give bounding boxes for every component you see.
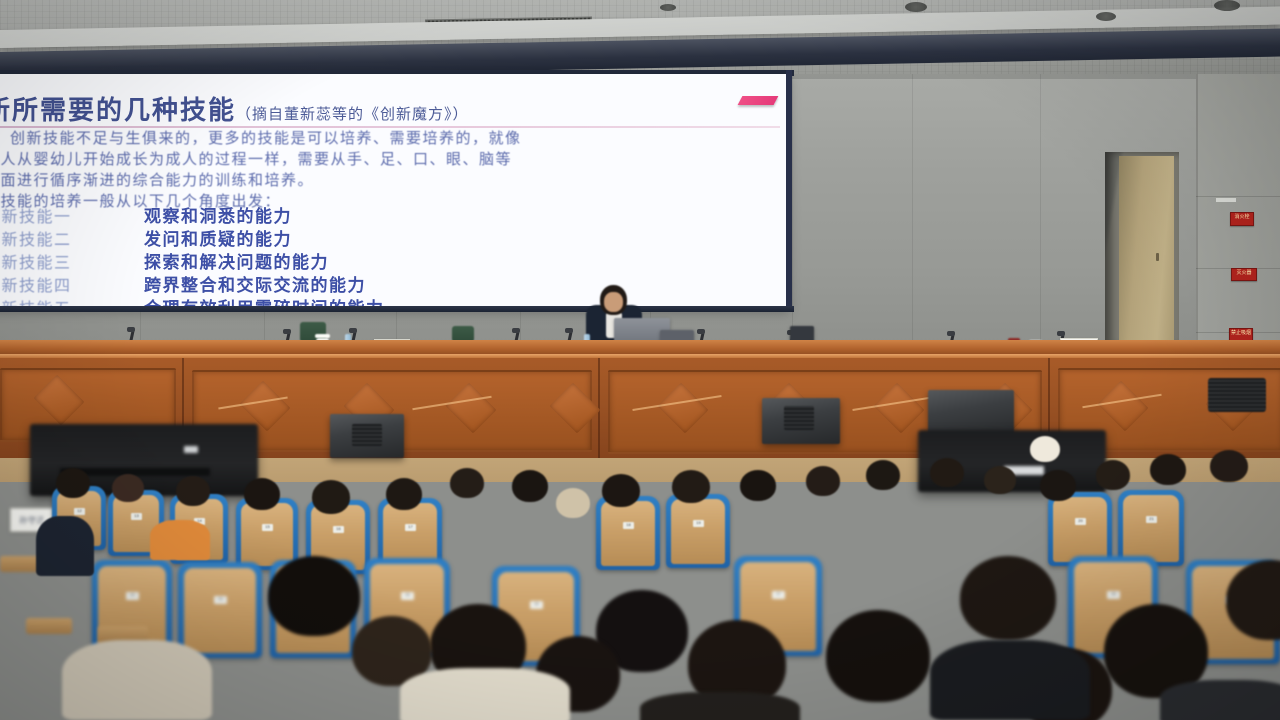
slide-skill-item: 创新技能三 探索和解决问题的能力 xyxy=(0,248,385,271)
microphone-head xyxy=(512,328,520,333)
wall-seam xyxy=(1040,74,1041,360)
lecture-hall-photo: 消火栓 灭火器 禁止吸烟 新所需要的几种技能（摘自董新蕊等的《创新魔方》） 创新… xyxy=(0,0,1280,720)
audience-head xyxy=(1096,460,1130,490)
seat-number: 12 xyxy=(74,508,85,515)
tea-cup-lid xyxy=(315,334,330,338)
skill-value: 发问和质疑的能力 xyxy=(144,225,292,250)
skill-value: 观察和洞悉的能力 xyxy=(144,202,292,227)
seat-back-pad xyxy=(1053,497,1107,562)
seat-armrest xyxy=(26,618,72,634)
audience-head xyxy=(672,470,710,503)
audience-shoulders xyxy=(640,692,800,720)
seat-back-pad xyxy=(184,568,256,653)
audience-head xyxy=(244,478,280,510)
slide-skill-item: 创新技能二 发问和质疑的能力 xyxy=(0,225,385,248)
audience-shoulders xyxy=(400,668,570,720)
audience-seat[interactable]: 20 xyxy=(1048,492,1112,566)
seat-back-pad xyxy=(241,503,293,566)
audience-head xyxy=(1210,450,1248,482)
slide-skill-item: 创新技能四 跨界整合和交际交流的能力 xyxy=(0,271,385,294)
audience-head xyxy=(984,466,1016,494)
slide: 新所需要的几种技能（摘自董新蕊等的《创新魔方》） 创新技能不足与生俱来的，更多的… xyxy=(0,74,790,310)
seat-number: 22 xyxy=(126,592,139,600)
audience-head xyxy=(826,610,930,702)
seat-back-pad xyxy=(671,499,725,564)
slide-title-note: （摘自董新蕊等的《创新魔方》） xyxy=(236,105,469,123)
audience-head-hood xyxy=(1030,436,1060,462)
audience-shoulders xyxy=(36,516,94,576)
slide-accent-mark xyxy=(738,96,779,105)
ceiling-downlight xyxy=(905,2,927,12)
audience-head xyxy=(806,466,840,496)
audience-seat[interactable]: 21 xyxy=(1118,490,1184,566)
audience-head xyxy=(56,468,90,498)
slide-body: 创新技能不足与生俱来的，更多的技能是可以培养、需要培养的，就像 个人从婴幼儿开始… xyxy=(0,128,790,212)
audience-head xyxy=(176,476,210,506)
seat-number: 26 xyxy=(530,601,543,609)
seat-number: 27 xyxy=(772,591,785,599)
audience-head xyxy=(960,556,1056,640)
slide-skill-item: 创新技能一 观察和洞悉的能力 xyxy=(0,202,385,225)
slide-title-main: 新所需要的几种技能 xyxy=(0,96,236,126)
audience-head xyxy=(866,460,900,490)
seat-number: 15 xyxy=(262,524,273,531)
speaker-grille xyxy=(784,406,814,430)
slide-body-line: 创新技能不足与生俱来的，更多的技能是可以培养、需要培养的，就像 xyxy=(0,128,790,149)
slide-body-line: 个人从婴幼儿开始成长为成人的过程一样，需要从手、足、口、眼、脑等 xyxy=(0,149,790,170)
pilaster-seam xyxy=(1196,196,1280,197)
fire-hydrant-sign: 消火栓 xyxy=(1230,212,1254,226)
seat-number: 25 xyxy=(401,592,414,600)
skill-key: 创新技能三 xyxy=(0,249,144,273)
seat-number: 21 xyxy=(1146,516,1157,523)
slide-skill-list: 创新技能一 观察和洞悉的能力 创新技能二 发问和质疑的能力 创新技能三 探索和解… xyxy=(0,202,385,310)
microphone-head xyxy=(1057,331,1065,336)
slide-body-line: 方面进行循序渐进的综合能力的训练和培养。 xyxy=(0,170,790,191)
seat-number: 17 xyxy=(405,524,416,531)
microphone-head xyxy=(127,327,135,332)
seat-number: 23 xyxy=(214,596,227,604)
audience-shoulders xyxy=(150,520,210,560)
ceiling-downlight xyxy=(1214,0,1240,11)
microphone-head xyxy=(697,329,705,334)
audience-head xyxy=(1150,454,1186,485)
wall-seam xyxy=(912,74,913,360)
audience-head xyxy=(740,470,776,501)
audience-seat[interactable]: 18 xyxy=(596,496,660,570)
audience-shoulders xyxy=(930,640,1090,720)
skill-value: 探索和解决问题的能力 xyxy=(144,248,329,273)
seat-number: 16 xyxy=(333,526,344,533)
audience-head xyxy=(602,474,640,507)
audience-head-cap xyxy=(556,488,590,518)
speaker-grille xyxy=(352,424,382,446)
side-door[interactable] xyxy=(1119,156,1174,347)
monitor-label xyxy=(184,446,198,453)
seat-number: 20 xyxy=(1075,518,1086,525)
audience-head xyxy=(512,470,548,502)
audience-head xyxy=(386,478,422,510)
ceiling-downlight xyxy=(660,4,676,11)
slide-title: 新所需要的几种技能（摘自董新蕊等的《创新魔方》） xyxy=(0,90,469,127)
audience-head xyxy=(1040,470,1076,501)
seat-number: 28 xyxy=(1107,591,1120,599)
microphone-head xyxy=(947,331,955,336)
audience-seat[interactable]: 19 xyxy=(666,494,730,568)
microphone-head xyxy=(349,328,357,333)
fire-extinguisher-sign: 灭火器 xyxy=(1231,268,1257,281)
seat-back-pad xyxy=(601,501,655,566)
wall-seam xyxy=(792,74,793,360)
seat-back-pad xyxy=(1123,495,1179,562)
floor-wedge-speaker xyxy=(1208,378,1266,412)
skill-key: 创新技能四 xyxy=(0,272,144,296)
audience-shoulders xyxy=(62,640,212,720)
audience-head xyxy=(930,458,964,487)
screen-frame-bottom xyxy=(0,306,794,312)
microphone-head xyxy=(565,328,573,333)
microphone-head xyxy=(283,329,291,334)
seat-number: 18 xyxy=(623,522,634,529)
pilaster-edge xyxy=(1196,74,1198,360)
screen-frame-right xyxy=(786,70,792,312)
skill-value: 跨界整合和交际交流的能力 xyxy=(144,271,366,296)
door-handle[interactable] xyxy=(1156,253,1159,261)
projection-screen: 新所需要的几种技能（摘自董新蕊等的《创新魔方》） 创新技能不足与生俱来的，更多的… xyxy=(0,74,790,310)
seat-number: 13 xyxy=(131,513,142,520)
skill-key: 创新技能二 xyxy=(0,226,144,250)
audience-head xyxy=(312,480,350,514)
wall-strip xyxy=(1216,198,1236,202)
audience-seat[interactable]: 23 xyxy=(178,562,262,658)
ceiling-downlight xyxy=(1096,12,1116,21)
audience-shoulders xyxy=(1160,680,1280,720)
presenter-face xyxy=(604,292,623,312)
skill-key: 创新技能一 xyxy=(0,203,144,227)
audience-head xyxy=(450,468,484,498)
audience-head xyxy=(112,474,144,502)
audience-head xyxy=(268,556,360,636)
seat-number: 19 xyxy=(693,520,704,527)
